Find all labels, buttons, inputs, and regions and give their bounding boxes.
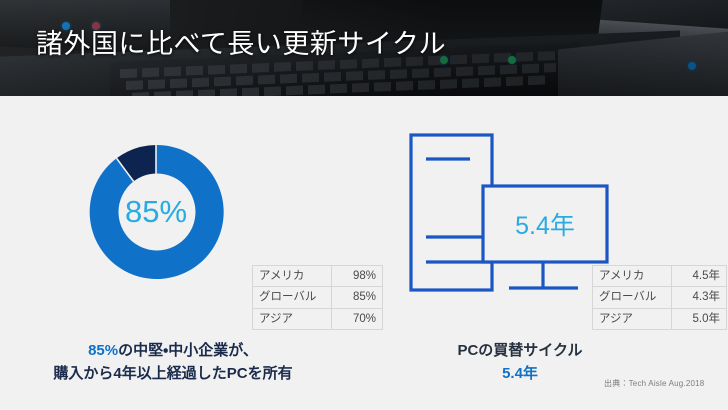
right-caption-line1: PCの買替サイクル xyxy=(398,340,642,363)
table-cell-label: アメリカ xyxy=(253,266,332,287)
table-cell-value: 70% xyxy=(332,308,383,329)
left-caption-accent: 85% xyxy=(88,342,118,359)
table-cell-value: 85% xyxy=(332,287,383,308)
table-row: アジア 5.0年 xyxy=(593,308,727,329)
table-row: アメリカ 4.5年 xyxy=(593,266,727,287)
table-cell-label: アジア xyxy=(593,308,672,329)
slide: 諸外国に比べて長い更新サイクル 85% アメリカ 98% グローバル 85% xyxy=(0,0,728,410)
monitor-label-wrap: 5.4年 xyxy=(483,186,607,262)
table-cell-value: 5.0年 xyxy=(672,308,727,329)
table-cell-label: アメリカ xyxy=(593,266,672,287)
left-caption-line1-rest: の中堅・中小企業が、 xyxy=(118,342,258,359)
donut-chart: 85% xyxy=(82,138,230,286)
header-photo-band: 諸外国に比べて長い更新サイクル xyxy=(0,0,728,96)
ownership-table: アメリカ 98% グローバル 85% アジア 70% xyxy=(252,265,383,330)
table-cell-label: グローバル xyxy=(593,287,672,308)
left-caption-line2: 購入から4年以上経過したPCを所有 xyxy=(8,363,338,386)
table-row: グローバル 4.3年 xyxy=(593,287,727,308)
refresh-cycle-table: アメリカ 4.5年 グローバル 4.3年 アジア 5.0年 xyxy=(592,265,727,330)
page-title: 諸外国に比べて長い更新サイクル xyxy=(36,22,446,61)
table-cell-label: グローバル xyxy=(253,287,332,308)
table-row: アメリカ 98% xyxy=(253,266,383,287)
donut-chart-svg xyxy=(82,138,230,286)
left-caption-line1: 85%の中堅・中小企業が、 xyxy=(8,340,338,363)
monitor-label: 5.4年 xyxy=(515,206,575,242)
table-row: アジア 70% xyxy=(253,308,383,329)
table-cell-label: アジア xyxy=(253,308,332,329)
table-cell-value: 98% xyxy=(332,266,383,287)
table-cell-value: 4.5年 xyxy=(672,266,727,287)
table-cell-value: 4.3年 xyxy=(672,287,727,308)
source-credit: 出典：Tech Aisle Aug.2018 xyxy=(604,378,704,389)
table-row: グローバル 85% xyxy=(253,287,383,308)
left-caption: 85%の中堅・中小企業が、 購入から4年以上経過したPCを所有 xyxy=(8,340,338,385)
